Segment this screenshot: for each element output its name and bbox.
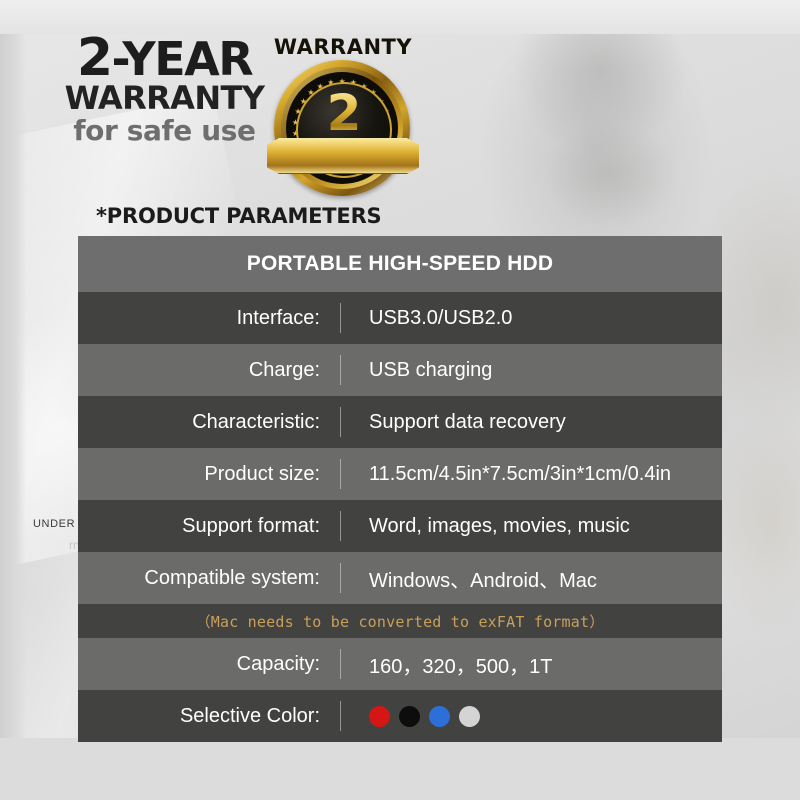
spec-note-row: （Mac needs to be converted to exFAT form… bbox=[78, 604, 722, 638]
warranty-badge: ★★★★★★★★★★★★★★★★★★★★★★★★★★ 2 YEAR WARRAN… bbox=[267, 30, 425, 182]
warranty-subhead: WARRANTY bbox=[62, 81, 267, 115]
color-swatch-blue[interactable] bbox=[429, 706, 450, 727]
spec-row: Charge:USB charging bbox=[78, 344, 722, 396]
background-left-edge bbox=[0, 0, 26, 800]
spec-label: Charge: bbox=[78, 359, 340, 382]
warranty-tagline: for safe use bbox=[62, 115, 267, 147]
color-swatch-black[interactable] bbox=[399, 706, 420, 727]
spec-row: Support format:Word, images, movies, mus… bbox=[78, 500, 722, 552]
spec-label: Product size: bbox=[78, 463, 340, 486]
color-swatch-red[interactable] bbox=[369, 706, 390, 727]
spec-value: USB charging bbox=[341, 359, 492, 382]
spec-label: Support format: bbox=[78, 515, 340, 538]
spec-row: Product size:11.5cm/4.5in*7.5cm/3in*1cm/… bbox=[78, 448, 722, 500]
spec-value-color bbox=[341, 706, 480, 727]
product-spec-page: UNDER rn 2-YEAR WARRANTY for safe use ★★… bbox=[0, 0, 800, 800]
spec-value-capacity: 160，320，500，1T bbox=[341, 650, 552, 679]
section-heading: *PRODUCT PARAMETERS bbox=[96, 204, 381, 228]
spec-value: 11.5cm/4.5in*7.5cm/3in*1cm/0.4in bbox=[341, 463, 671, 486]
badge-ribbon bbox=[267, 138, 419, 174]
color-swatch-group bbox=[369, 706, 480, 727]
spec-note-text: （Mac needs to be converted to exFAT form… bbox=[196, 611, 605, 632]
spec-label: Characteristic: bbox=[78, 411, 340, 434]
spec-label-color: Selective Color: bbox=[78, 705, 340, 728]
background-top-band bbox=[0, 0, 800, 34]
background-under-label: UNDER bbox=[33, 518, 75, 530]
spec-rows-container: Interface:USB3.0/USB2.0Charge:USB chargi… bbox=[78, 292, 722, 604]
badge-number: 2 bbox=[298, 88, 390, 138]
spec-value: Windows、Android、Mac bbox=[341, 564, 597, 593]
warranty-banner: 2-YEAR WARRANTY for safe use ★★★★★★★★★★★… bbox=[62, 36, 432, 176]
spec-label: Interface: bbox=[78, 307, 340, 330]
spec-label-capacity: Capacity: bbox=[78, 653, 340, 676]
spec-value: USB3.0/USB2.0 bbox=[341, 307, 512, 330]
spec-table-title: PORTABLE HIGH-SPEED HDD bbox=[247, 252, 553, 276]
warranty-text-block: 2-YEAR WARRANTY for safe use bbox=[62, 36, 267, 147]
badge-ribbon-label: WARRANTY bbox=[267, 30, 419, 64]
color-swatch-gray[interactable] bbox=[459, 706, 480, 727]
spec-value: Support data recovery bbox=[341, 411, 566, 434]
warranty-headline: 2-YEAR bbox=[62, 36, 267, 81]
spec-row-color: Selective Color: bbox=[78, 690, 722, 742]
warranty-headline-suffix: -YEAR bbox=[112, 32, 253, 86]
spec-row-capacity: Capacity: 160，320，500，1T bbox=[78, 638, 722, 690]
spec-table-header: PORTABLE HIGH-SPEED HDD bbox=[78, 236, 722, 292]
spec-table: PORTABLE HIGH-SPEED HDD Interface:USB3.0… bbox=[78, 236, 722, 742]
spec-row: Compatible system:Windows、Android、Mac bbox=[78, 552, 722, 604]
spec-row: Characteristic:Support data recovery bbox=[78, 396, 722, 448]
spec-label: Compatible system: bbox=[78, 567, 340, 590]
background-bottom-band bbox=[0, 738, 800, 800]
spec-value: Word, images, movies, music bbox=[341, 515, 630, 538]
spec-row: Interface:USB3.0/USB2.0 bbox=[78, 292, 722, 344]
